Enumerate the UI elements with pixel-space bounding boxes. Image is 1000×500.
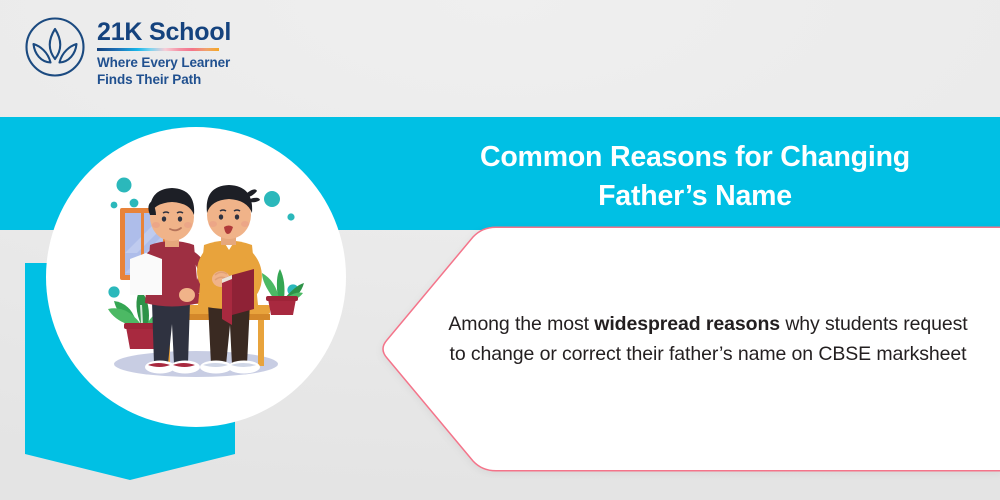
lotus-circle-logo-icon bbox=[24, 16, 86, 78]
page-title-line2: Father’s Name bbox=[598, 180, 792, 212]
description-text-bold: widespread reasons bbox=[594, 313, 780, 335]
brand-tagline-line2: Finds Their Path bbox=[97, 72, 201, 87]
description-text: Among the most widespread reasons why st… bbox=[438, 310, 978, 369]
two-students-discussing-documents-illustration bbox=[46, 127, 346, 427]
brand-name: 21K School bbox=[97, 19, 231, 45]
infographic-canvas: 21K School Where Every Learner Finds The… bbox=[0, 0, 1000, 500]
description-card: Among the most widespread reasons why st… bbox=[378, 226, 1000, 472]
brand-tagline: Where Every Learner Finds Their Path bbox=[97, 55, 231, 88]
illustration-circle bbox=[46, 127, 346, 427]
header: 21K School Where Every Learner Finds The… bbox=[0, 0, 1000, 117]
page-title-line1: Common Reasons for Changing bbox=[480, 141, 910, 173]
brand-text-group: 21K School Where Every Learner Finds The… bbox=[97, 19, 231, 88]
description-text-plain-1: Among the most bbox=[448, 313, 594, 335]
brand-logo[interactable]: 21K School Where Every Learner Finds The… bbox=[24, 16, 231, 88]
brand-gradient-rule bbox=[97, 48, 219, 51]
page-title: Common Reasons for Changing Father’s Nam… bbox=[400, 138, 990, 216]
brand-tagline-line1: Where Every Learner bbox=[97, 55, 230, 70]
